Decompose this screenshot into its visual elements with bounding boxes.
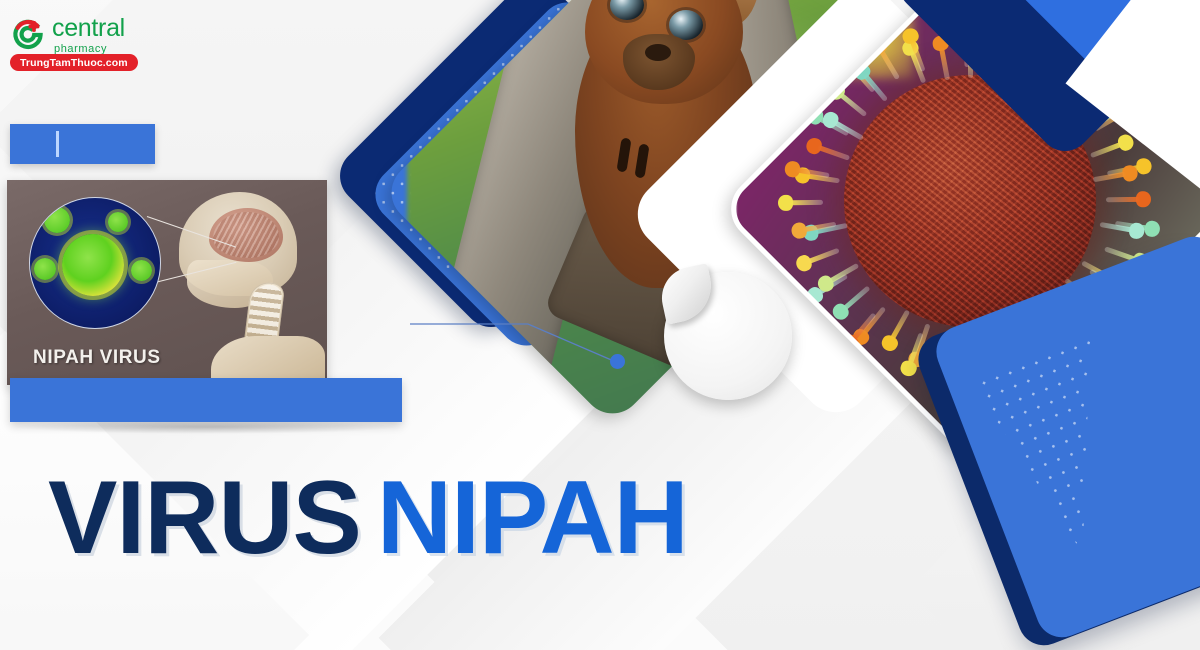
virus-spike [1080,193,1151,205]
brand-name: central [52,16,125,41]
title-word-virus: VIRUS [48,460,361,576]
banner-canvas: central pharmacy TrungTamThuoc.com NIPAH… [0,0,1200,650]
white-circle-sticker [664,272,792,400]
page-title: VIRUSNIPAH [48,466,688,570]
bar-shadow [12,420,400,434]
central-pharmacy-c-cross-icon [10,17,46,53]
connector-endpoint-dot [610,354,625,369]
nipah-virus-brain-diagram: NIPAH VIRUS [7,180,327,385]
lower-accent-bar[interactable] [10,378,402,422]
caption-bar[interactable] [10,124,155,164]
brand-logo[interactable]: central pharmacy [10,16,125,56]
brand-url-badge[interactable]: TrungTamThuoc.com [10,54,138,71]
virus-spike [778,197,860,209]
text-caret [56,131,59,157]
virus-magnifier-circle [29,197,161,329]
title-word-nipah: NIPAH [377,460,688,576]
illustration-label: NIPAH VIRUS [33,347,161,369]
